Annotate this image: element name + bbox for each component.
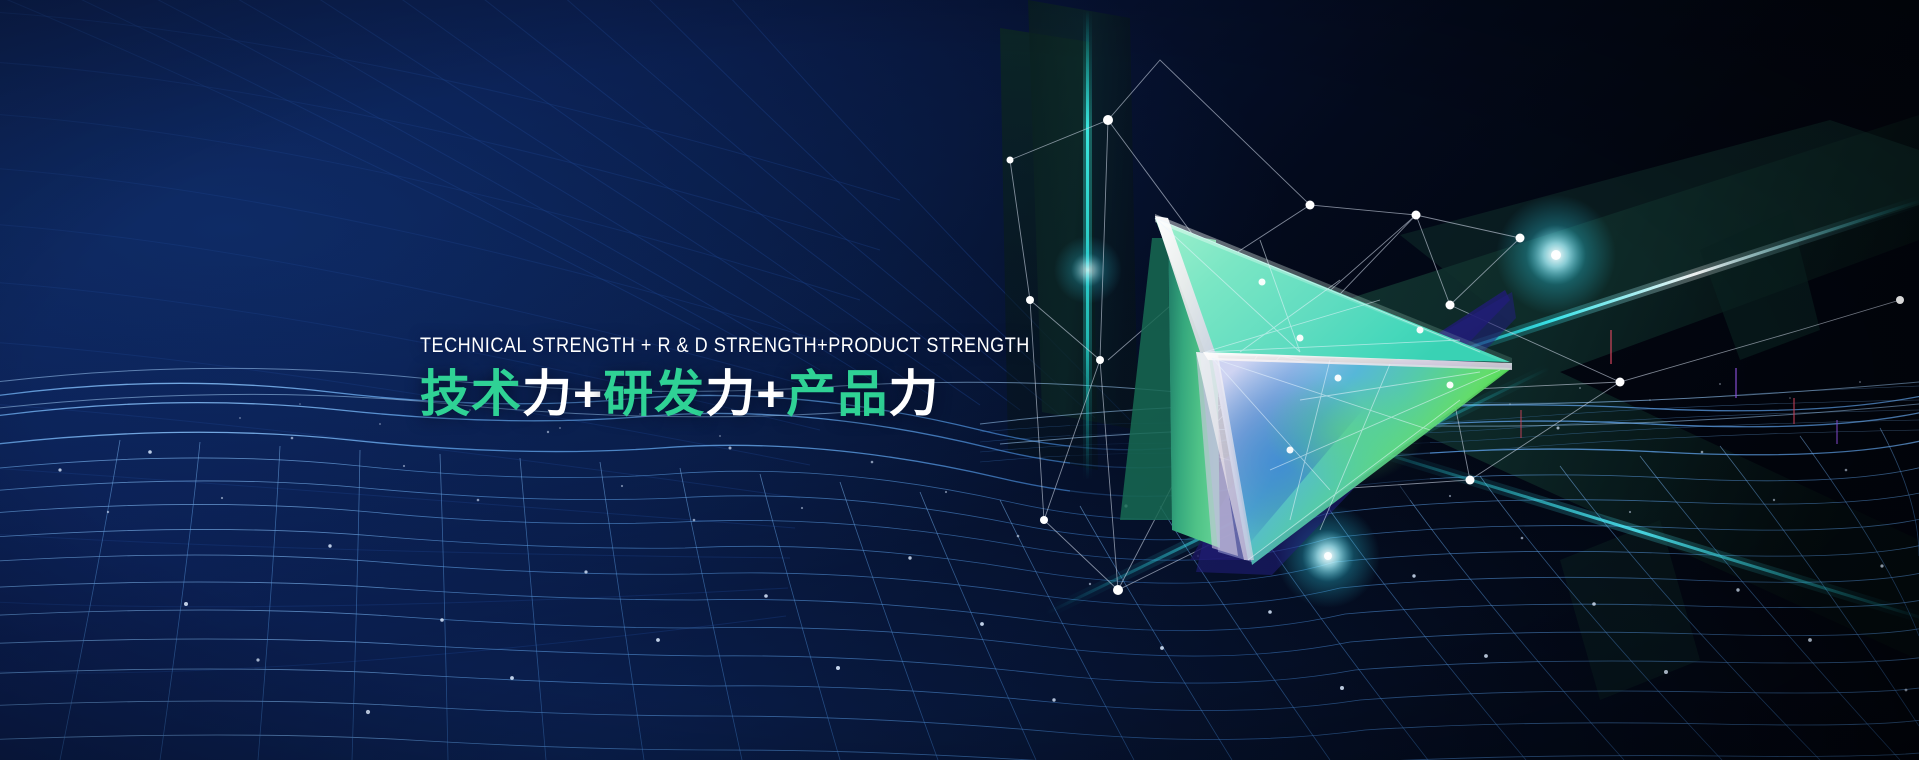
hero-eyebrow-english: TECHNICAL STRENGTH + R & D STRENGTH+PROD… (420, 333, 1030, 359)
headline-part-3: 研发 (603, 366, 705, 422)
headline-part-5: 产品 (786, 366, 888, 422)
hero-text-block: TECHNICAL STRENGTH + R & D STRENGTH+PROD… (420, 333, 1129, 423)
headline-part-2: 力+ (522, 366, 603, 422)
hero-headline-chinese: 技术力+研发力+产品力 (420, 365, 1129, 423)
headline-part-1: 技术 (420, 366, 522, 422)
headline-part-6: 力 (888, 366, 939, 422)
headline-part-4: 力+ (705, 366, 786, 422)
hero-banner: TECHNICAL STRENGTH + R & D STRENGTH+PROD… (0, 0, 1919, 760)
